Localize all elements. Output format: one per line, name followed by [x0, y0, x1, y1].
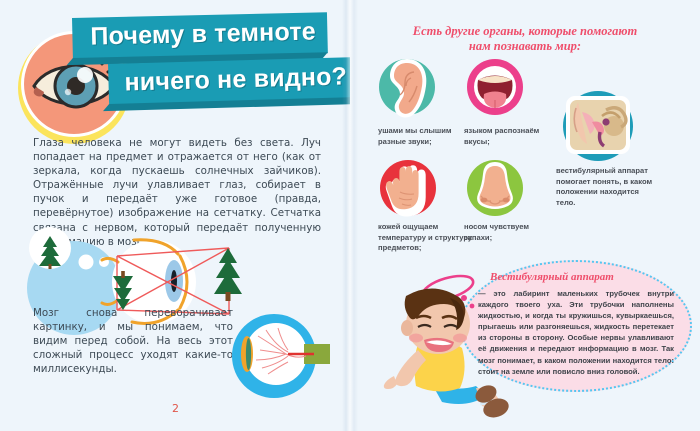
tree-upright-icon	[214, 248, 242, 301]
right-page-heading-line1: Есть другие органы, которые помогают	[358, 24, 692, 39]
organ-caption-nose-line2: запахи;	[464, 233, 544, 244]
left-page: Почему в темноте ничего не видно? Глаза …	[0, 0, 350, 431]
right-page-heading: Есть другие органы, которые помогают нам…	[358, 24, 692, 54]
tongue-icon	[464, 56, 526, 122]
organ-caption-ear: ушами мы слышим разные звуки;	[378, 126, 460, 147]
organ-caption-ear-line2: разные звуки;	[378, 137, 460, 148]
title-banner-line2: ничего не видно?	[108, 57, 350, 105]
organ-caption-tongue-line2: вкусы;	[464, 137, 548, 148]
nose-icon	[464, 158, 526, 222]
organ-caption-hand-line2: температуру и структуру	[378, 233, 476, 244]
eyeball-cross-section-illustration	[222, 306, 342, 410]
organ-caption-tongue: языком распознаём вкусы;	[464, 126, 548, 147]
organ-caption-inner-ear: вестибулярный аппарат помогает понять, в…	[556, 166, 660, 208]
organ-caption-nose-line1: носом чувствуем	[464, 222, 544, 233]
page-number-left: 2	[172, 402, 179, 415]
organ-caption-inner-ear-line4: тело.	[556, 198, 660, 209]
organ-caption-ear-line1: ушами мы слышим	[378, 126, 460, 137]
organ-item-ear	[378, 56, 436, 127]
organ-caption-inner-ear-line1: вестибулярный аппарат	[556, 166, 660, 177]
organ-caption-hand: кожей ощущаем температуру и структуру пр…	[378, 222, 476, 254]
organ-caption-tongue-line1: языком распознаём	[464, 126, 548, 137]
title-banner-line1: Почему в темноте	[72, 12, 328, 59]
dizzy-boy-illustration	[380, 272, 510, 428]
ear-icon	[378, 56, 436, 122]
right-page: Есть другие органы, которые помогают нам…	[350, 0, 700, 431]
right-page-heading-line2: нам познавать мир:	[358, 39, 692, 54]
organ-caption-nose: носом чувствуем запахи;	[464, 222, 544, 243]
inner-ear-icon	[556, 88, 640, 164]
organ-caption-hand-line3: предметов;	[378, 243, 476, 254]
organ-item-hand	[378, 158, 438, 227]
organ-item-inner-ear	[556, 88, 640, 169]
hand-icon	[378, 158, 438, 222]
organ-caption-inner-ear-line2: помогает понять, в каком	[556, 177, 660, 188]
organ-caption-inner-ear-line3: положении находится	[556, 187, 660, 198]
organ-item-nose	[464, 158, 526, 227]
organ-caption-hand-line1: кожей ощущаем	[378, 222, 476, 233]
paragraph-2: Мозг снова переворачивает картинку, и мы…	[33, 306, 233, 376]
organ-item-tongue	[464, 56, 526, 127]
